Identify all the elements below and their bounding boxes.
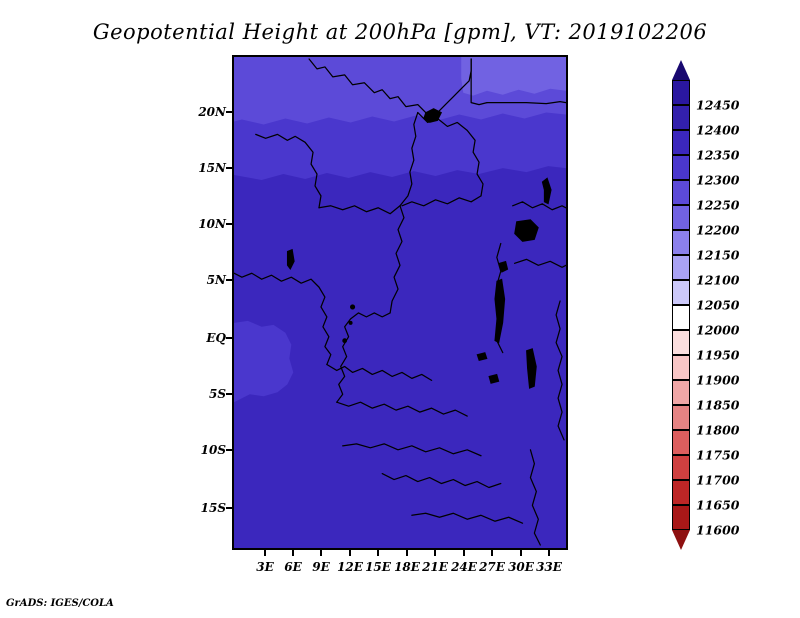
island-bioko — [350, 305, 354, 309]
colorbar-tick-label: 11900 — [696, 373, 740, 388]
geopotential-height-map — [234, 57, 566, 548]
x-tick-mark — [491, 550, 493, 556]
island-principe — [349, 321, 352, 324]
colorbar-tick-label: 11800 — [696, 423, 740, 438]
colorbar-swatch — [672, 430, 690, 455]
x-tick-mark — [377, 550, 379, 556]
colorbar-swatch — [672, 305, 690, 330]
colorbar-tick-label: 11600 — [696, 523, 740, 538]
colorbar-tick-label: 12000 — [696, 323, 740, 338]
colorbar-swatch — [672, 355, 690, 380]
y-tick-mark — [226, 111, 232, 113]
x-tick-mark — [292, 550, 294, 556]
colorbar-swatch — [672, 230, 690, 255]
footer-credit: GrADS: IGES/COLA — [6, 598, 114, 609]
colorbar-swatch — [672, 405, 690, 430]
colorbar-swatch — [672, 80, 690, 105]
colorbar-swatch — [672, 155, 690, 180]
y-tick-label-eq: EQ — [186, 331, 226, 345]
x-tick-mark — [264, 550, 266, 556]
colorbar-tick-label: 11750 — [696, 448, 740, 463]
colorbar-tick-label: 12200 — [696, 223, 740, 238]
colorbar-tick-label: 11950 — [696, 348, 740, 363]
colorbar-cap-top-icon — [672, 60, 690, 80]
colorbar-swatch — [672, 380, 690, 405]
colorbar-swatch — [672, 455, 690, 480]
colorbar-tick-label: 12300 — [696, 173, 740, 188]
colorbar-swatch — [672, 180, 690, 205]
colorbar-swatch — [672, 205, 690, 230]
y-tick-label-20n: 20N — [186, 105, 226, 119]
y-tick-mark — [226, 223, 232, 225]
colorbar-tick-label: 12450 — [696, 98, 740, 113]
y-tick-mark — [226, 167, 232, 169]
colorbar-tick-label: 12350 — [696, 148, 740, 163]
x-tick-mark — [320, 550, 322, 556]
colorbar-swatch — [672, 280, 690, 305]
x-tick-label-33e: 33E — [529, 560, 569, 574]
y-tick-label-5n: 5N — [186, 273, 226, 287]
colorbar-cap-bottom-icon — [672, 530, 690, 550]
x-tick-mark — [406, 550, 408, 556]
colorbar-swatch — [672, 130, 690, 155]
colorbar-tick-label: 11700 — [696, 473, 740, 488]
y-tick-mark — [226, 507, 232, 509]
x-tick-mark — [349, 550, 351, 556]
colorbar: 1245012400123501230012250122001215012100… — [672, 80, 690, 530]
y-tick-label-10s: 10S — [186, 443, 226, 457]
contour-bands — [234, 57, 566, 548]
lake-bangweulu — [489, 374, 499, 383]
colorbar-tick-label: 12050 — [696, 298, 740, 313]
x-tick-mark — [463, 550, 465, 556]
y-tick-mark — [226, 337, 232, 339]
y-tick-mark — [226, 449, 232, 451]
colorbar-swatch — [672, 255, 690, 280]
colorbar-tick-label: 12400 — [696, 123, 740, 138]
x-tick-mark — [548, 550, 550, 556]
y-tick-label-15s: 15S — [186, 501, 226, 515]
island-sao-tome — [343, 339, 347, 343]
colorbar-tick-label: 12150 — [696, 248, 740, 263]
y-tick-label-15n: 15N — [186, 161, 226, 175]
map-plot-area — [232, 55, 568, 550]
x-tick-mark — [434, 550, 436, 556]
colorbar-swatch — [672, 505, 690, 530]
colorbar-swatch — [672, 330, 690, 355]
colorbar-tick-label: 11850 — [696, 398, 740, 413]
colorbar-swatch — [672, 105, 690, 130]
y-tick-label-10n: 10N — [186, 217, 226, 231]
y-tick-label-5s: 5S — [186, 387, 226, 401]
y-tick-mark — [226, 279, 232, 281]
colorbar-swatch — [672, 480, 690, 505]
x-tick-mark — [520, 550, 522, 556]
y-tick-mark — [226, 393, 232, 395]
colorbar-tick-label: 12250 — [696, 198, 740, 213]
page-title: Geopotential Height at 200hPa [gpm], VT:… — [0, 20, 800, 44]
colorbar-tick-label: 11650 — [696, 498, 740, 513]
colorbar-tick-label: 12100 — [696, 273, 740, 288]
